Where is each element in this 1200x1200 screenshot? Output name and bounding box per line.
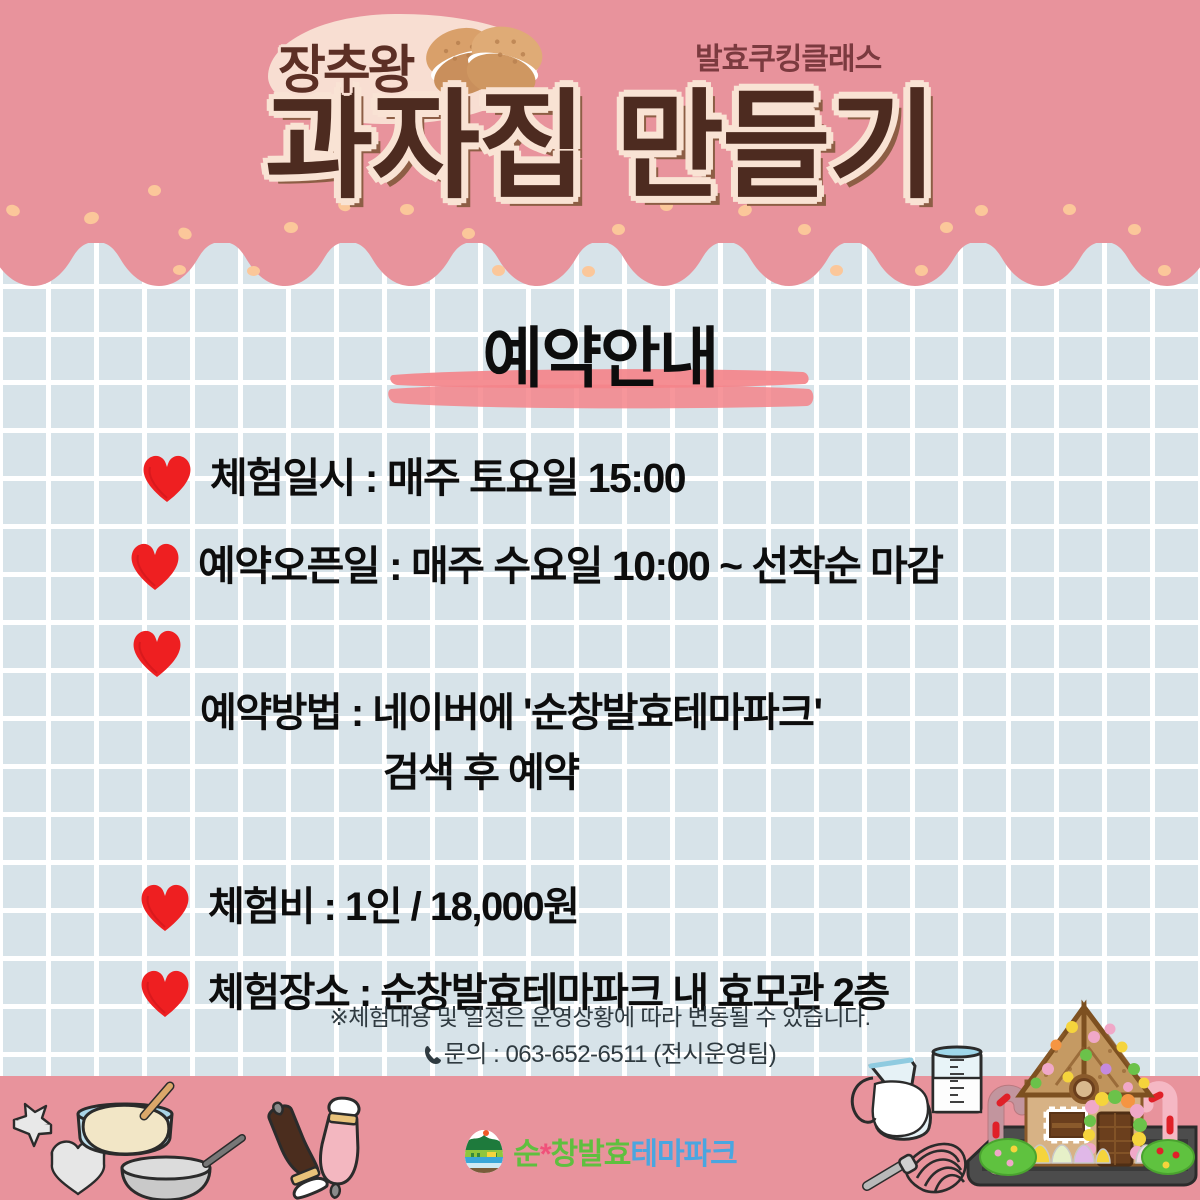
- brand-name-small: 장추왕: [278, 28, 413, 103]
- section-heading-block: 예약안내: [0, 305, 1200, 401]
- logo-star-icon: *: [540, 1138, 551, 1171]
- heart-icon: [140, 452, 194, 504]
- list-item: 체험일시 : 매주 토요일 15:00: [0, 448, 1200, 510]
- poster-main-title: 과자집 만들기: [265, 88, 935, 206]
- list-item-line1: 예약방법 : 네이버에 '순창발효테마파크': [200, 691, 821, 735]
- logo-text: 순*창발효테마파크: [513, 1129, 737, 1173]
- list-item-text: 체험일시 : 매주 토요일 15:00: [210, 448, 685, 510]
- logo-text-part3: 테마파크: [630, 1138, 736, 1171]
- footnote-contact-line: 문의 : 063-652-6511 (전시운영팀): [0, 1036, 1200, 1073]
- header-subtitle: 발효쿠킹클래스: [695, 34, 881, 78]
- heart-icon: [130, 627, 184, 679]
- list-item: 체험비 : 1인 / 18,000원: [0, 877, 1200, 937]
- list-item-text-block: 예약방법 : 네이버에 '순창발효테마파크' 검색 후 예약: [200, 623, 821, 863]
- sunchang-logo[interactable]: 순*창발효테마파크: [0, 1128, 1200, 1174]
- list-item-text: 체험비 : 1인 / 18,000원: [208, 877, 578, 937]
- page-title: 예약안내: [483, 305, 718, 401]
- heart-icon: [128, 540, 182, 592]
- list-item: 예약방법 : 네이버에 '순창발효테마파크' 검색 후 예약: [0, 623, 1200, 863]
- logo-text-part2: 창발효: [551, 1138, 631, 1171]
- list-item: 예약오픈일 : 매주 수요일 10:00 ~ 선착순 마감: [0, 536, 1200, 598]
- sunchang-egg-logo-icon: [463, 1128, 505, 1174]
- reservation-info-list: 체험일시 : 매주 토요일 15:00 예약오픈일 : 매주 수요일 10:00…: [0, 448, 1200, 1049]
- footnote-contact: 문의 : 063-652-6511 (전시운영팀): [444, 1041, 776, 1068]
- footnote-block: ※체험내용 및 일정은 운영상황에 따라 변동될 수 있습니다. 문의 : 06…: [0, 1000, 1200, 1073]
- heart-icon: [138, 881, 192, 933]
- phone-icon: [424, 1045, 442, 1065]
- poster-canvas: 장추왕 발효쿠킹클래스 과자집 만들기 예약안내 체험일시 : 매주 토요일 1…: [0, 0, 1200, 1200]
- logo-text-part1: 순: [513, 1138, 540, 1171]
- list-item-line2: 검색 후 예약: [200, 743, 821, 803]
- list-item-text: 예약오픈일 : 매주 수요일 10:00 ~ 선착순 마감: [198, 536, 943, 598]
- footnote-disclaimer: ※체험내용 및 일정은 운영상황에 따라 변동될 수 있습니다.: [0, 1000, 1200, 1036]
